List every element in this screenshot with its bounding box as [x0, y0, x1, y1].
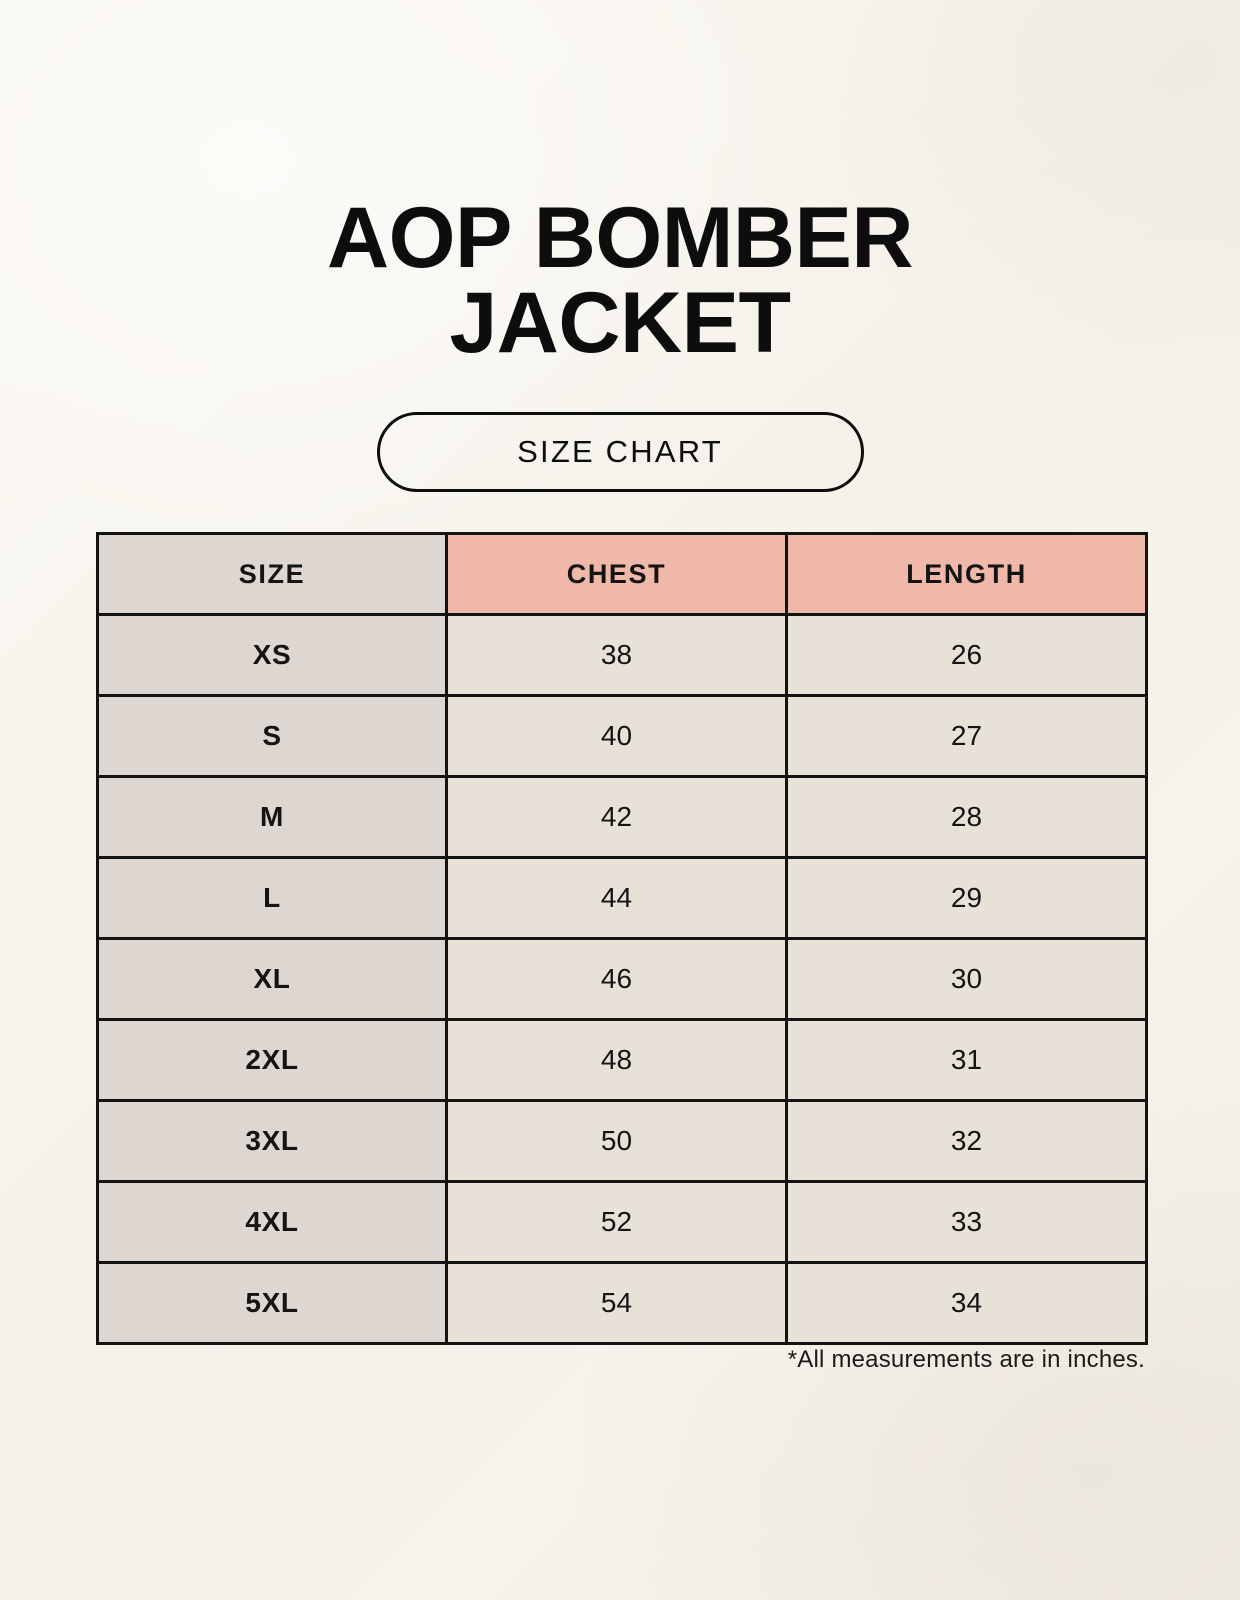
- column-header-size: SIZE: [98, 534, 447, 615]
- table-row: 4XL 52 33: [98, 1182, 1147, 1263]
- table-row: 2XL 48 31: [98, 1020, 1147, 1101]
- cell-size: 3XL: [98, 1101, 447, 1182]
- cell-length: 29: [787, 858, 1147, 939]
- cell-length: 30: [787, 939, 1147, 1020]
- size-chart-badge: SIZE CHART: [377, 412, 864, 492]
- cell-length: 33: [787, 1182, 1147, 1263]
- cell-chest: 44: [447, 858, 787, 939]
- cell-size: 5XL: [98, 1263, 447, 1344]
- page-title: AOP BOMBER JACKET: [0, 196, 1240, 366]
- size-chart-page: AOP BOMBER JACKET SIZE CHART SIZE CHEST …: [0, 0, 1240, 1600]
- column-header-chest: CHEST: [447, 534, 787, 615]
- cell-chest: 40: [447, 696, 787, 777]
- table-row: XL 46 30: [98, 939, 1147, 1020]
- table-row: XS 38 26: [98, 615, 1147, 696]
- cell-chest: 50: [447, 1101, 787, 1182]
- cell-size: 2XL: [98, 1020, 447, 1101]
- table-row: L 44 29: [98, 858, 1147, 939]
- cell-size: S: [98, 696, 447, 777]
- table-row: S 40 27: [98, 696, 1147, 777]
- cell-chest: 38: [447, 615, 787, 696]
- cell-chest: 54: [447, 1263, 787, 1344]
- table-row: 3XL 50 32: [98, 1101, 1147, 1182]
- cell-size: XS: [98, 615, 447, 696]
- title-block: AOP BOMBER JACKET: [0, 196, 1240, 366]
- cell-size: M: [98, 777, 447, 858]
- table-header-row: SIZE CHEST LENGTH: [98, 534, 1147, 615]
- table-header: SIZE CHEST LENGTH: [98, 534, 1147, 615]
- cell-size: XL: [98, 939, 447, 1020]
- cell-length: 32: [787, 1101, 1147, 1182]
- cell-length: 31: [787, 1020, 1147, 1101]
- measurement-footnote: *All measurements are in inches.: [96, 1346, 1145, 1374]
- cell-length: 26: [787, 615, 1147, 696]
- size-table-wrapper: SIZE CHEST LENGTH XS 38 26 S 40 27 M: [96, 532, 1145, 1345]
- table-row: 5XL 54 34: [98, 1263, 1147, 1344]
- cell-chest: 48: [447, 1020, 787, 1101]
- column-header-length: LENGTH: [787, 534, 1147, 615]
- size-chart-table: SIZE CHEST LENGTH XS 38 26 S 40 27 M: [96, 532, 1148, 1345]
- cell-length: 28: [787, 777, 1147, 858]
- table-body: XS 38 26 S 40 27 M 42 28 L 44 29: [98, 615, 1147, 1344]
- cell-chest: 52: [447, 1182, 787, 1263]
- cell-length: 27: [787, 696, 1147, 777]
- cell-chest: 42: [447, 777, 787, 858]
- badge-row: SIZE CHART: [0, 412, 1240, 492]
- cell-chest: 46: [447, 939, 787, 1020]
- cell-length: 34: [787, 1263, 1147, 1344]
- table-row: M 42 28: [98, 777, 1147, 858]
- cell-size: 4XL: [98, 1182, 447, 1263]
- cell-size: L: [98, 858, 447, 939]
